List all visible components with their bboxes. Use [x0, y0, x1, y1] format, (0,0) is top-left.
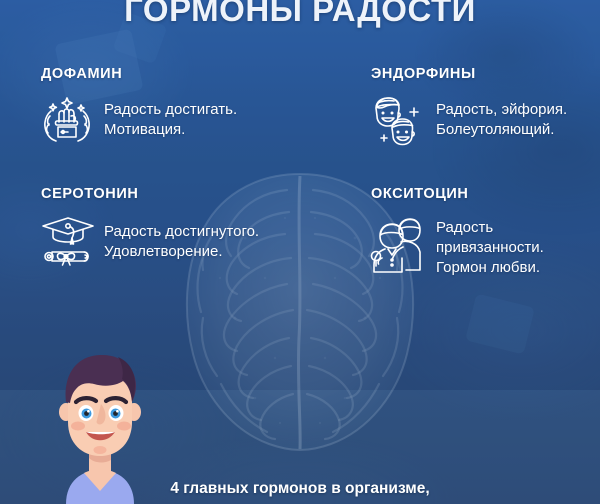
hormone-description-endorphin: Радость, эйфория. Болеутоляющий.	[436, 94, 567, 140]
background-shard	[465, 293, 535, 354]
hormone-block-serotonin: СЕРОТОНИН	[38, 186, 259, 268]
bottom-caption: 4 главных гормонов в организме,	[0, 480, 600, 498]
hormone-block-oxytocin: ОКСИТОЦИН	[368, 186, 544, 278]
raised-fist-icon	[38, 94, 96, 148]
hormone-title-serotonin: СЕРОТОНИН	[41, 186, 259, 202]
hormone-block-dopamine: ДОФАМИН	[38, 66, 237, 148]
page-title: ГОРМОНЫ РАДОСТИ	[0, 0, 600, 29]
smiling-faces-icon	[368, 94, 426, 148]
hormone-title-oxytocin: ОКСИТОЦИН	[371, 186, 544, 202]
embracing-couple-icon	[368, 214, 426, 276]
hormone-title-endorphin: ЭНДОРФИНЫ	[371, 66, 567, 82]
hormone-description-oxytocin: Радость привязанности. Гормон любви.	[436, 214, 544, 278]
hormone-description-serotonin: Радость достигнутого. Удовлетворение.	[104, 214, 259, 262]
hormone-title-dopamine: ДОФАМИН	[41, 66, 237, 82]
hormone-block-endorphin: ЭНДОРФИНЫ	[368, 66, 567, 148]
graduation-cap-diploma-icon	[38, 214, 98, 268]
infographic-poster: ГОРМОНЫ РАДОСТИ ДОФАМИН	[0, 0, 600, 504]
hormone-description-dopamine: Радость достигать. Мотивация.	[104, 94, 237, 140]
